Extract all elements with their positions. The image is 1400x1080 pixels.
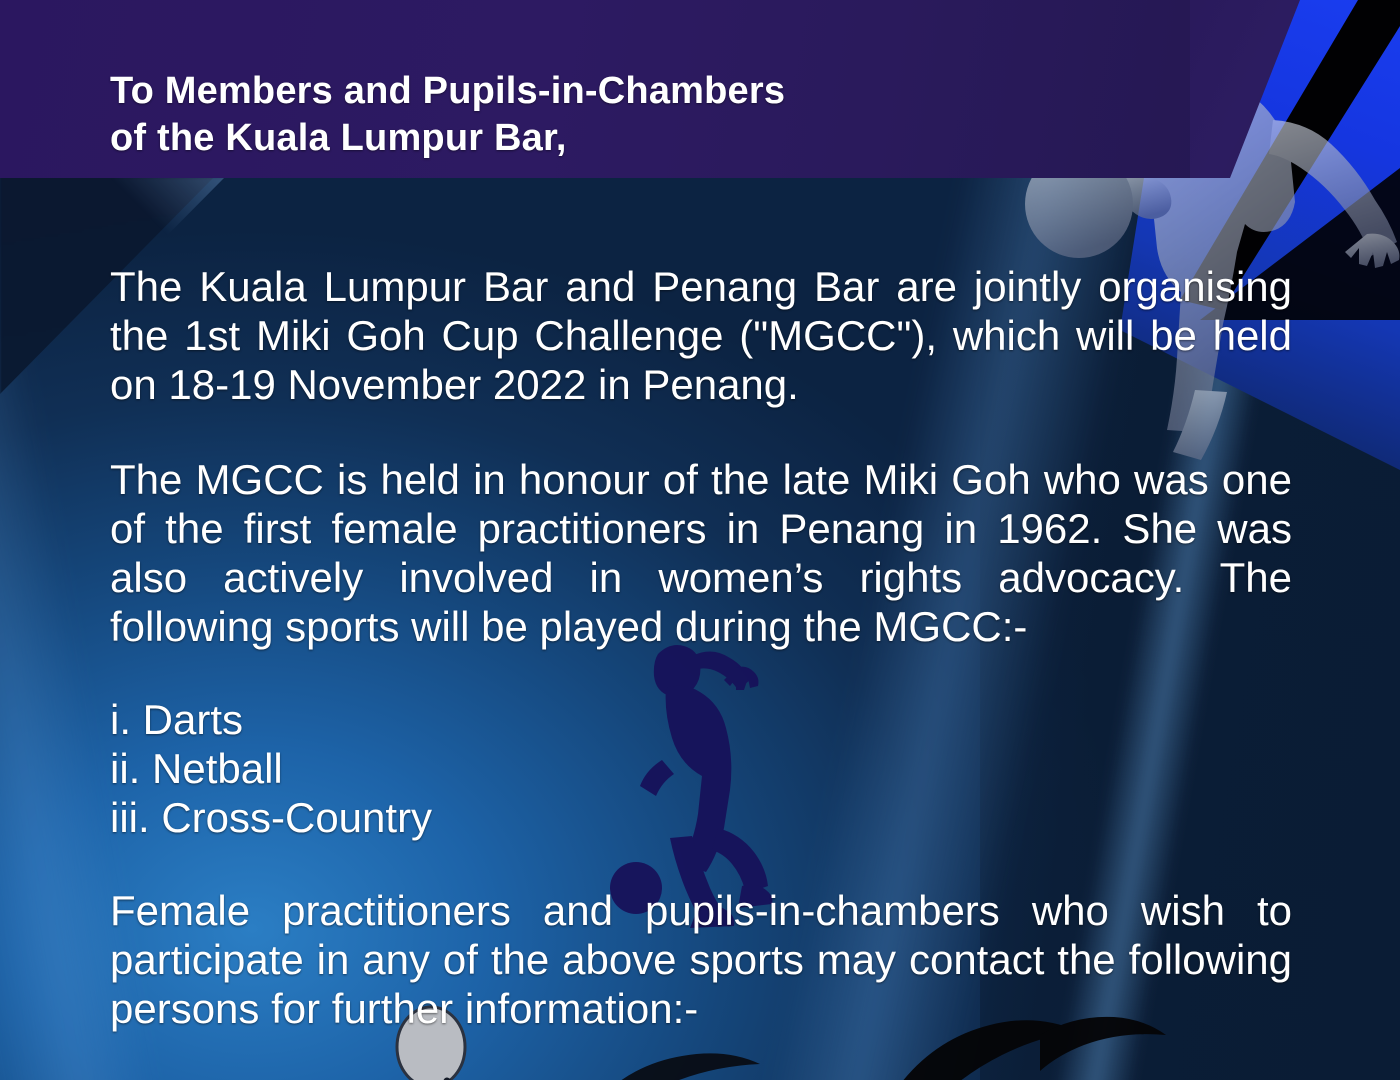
page-title: To Members and Pupils-in-Chambers of the…: [110, 68, 1110, 162]
poster-canvas: To Members and Pupils-in-Chambers of the…: [0, 0, 1400, 1080]
closing-spacer: [110, 842, 1292, 886]
bottom-black-silhouette-secondary: [600, 1040, 800, 1080]
list-item: iii. Cross-Country: [110, 793, 1292, 842]
list-item: ii. Netball: [110, 744, 1292, 793]
paragraph-contact: Female practitioners and pupils-in-chamb…: [110, 886, 1292, 1033]
body-content: The Kuala Lumpur Bar and Penang Bar are …: [110, 262, 1292, 1033]
list-spacer: [110, 651, 1292, 695]
sports-list: i. Darts ii. Netball iii. Cross-Country: [110, 695, 1292, 842]
paragraph-spacer: [110, 409, 1292, 455]
paragraph-tribute: The MGCC is held in honour of the late M…: [110, 455, 1292, 651]
list-item: i. Darts: [110, 695, 1292, 744]
paragraph-intro: The Kuala Lumpur Bar and Penang Bar are …: [110, 262, 1292, 409]
